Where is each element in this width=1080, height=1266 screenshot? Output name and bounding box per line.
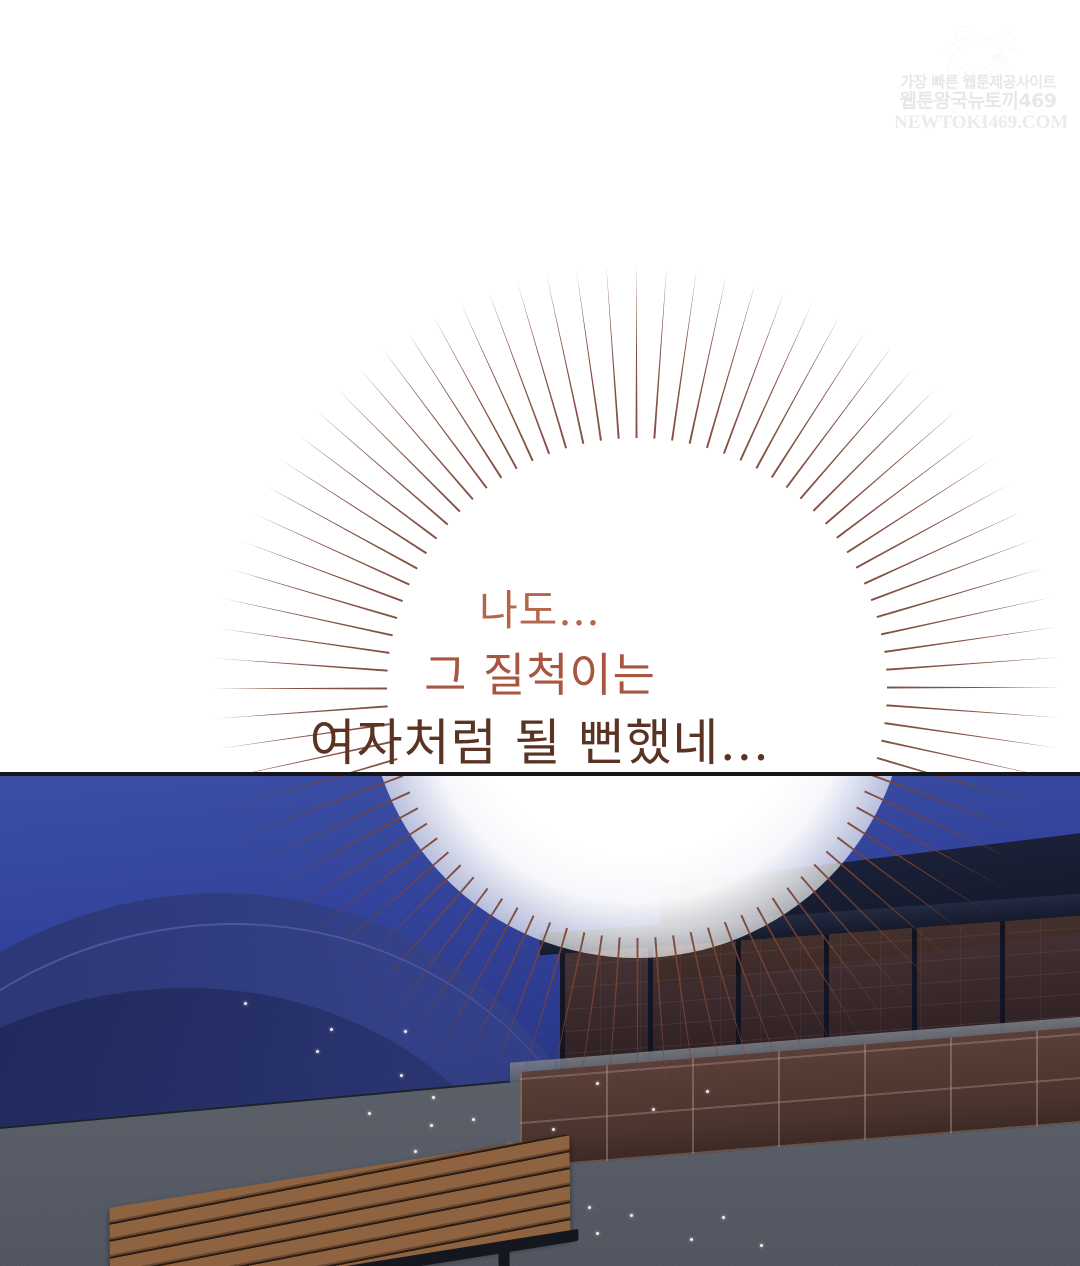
sparkle-dot xyxy=(588,1206,591,1209)
bench-leg-right xyxy=(498,1242,510,1266)
sparkle-dot xyxy=(430,1124,433,1127)
burst-spike xyxy=(637,938,639,1112)
sparkle-dot xyxy=(552,1128,555,1131)
burst-spike xyxy=(636,264,638,438)
webtoon-panel: 나도… 그 질척이는 여자처럼 될 뻔했네… xyxy=(0,0,1080,1266)
sparkle-dot xyxy=(330,1028,333,1031)
sparkle-dot xyxy=(722,1216,725,1219)
sparkle-dot xyxy=(404,1030,407,1033)
sparkle-dot xyxy=(706,1090,709,1093)
sparkle-dot xyxy=(400,1074,403,1077)
white-panel xyxy=(0,0,1080,772)
sparkle-dot xyxy=(472,1118,475,1121)
sparkle-dot xyxy=(414,1150,417,1153)
sparkle-dot xyxy=(368,1112,371,1115)
sparkle-dot xyxy=(244,1002,247,1005)
sparkle-dot xyxy=(630,1214,633,1217)
sparkle-dot xyxy=(316,1050,319,1053)
sparkle-dot xyxy=(596,1082,599,1085)
sparkle-dot xyxy=(432,1096,435,1099)
sparkle-dot xyxy=(760,1244,763,1247)
burst-spike xyxy=(887,687,1061,689)
sparkle-dot xyxy=(652,1108,655,1111)
panel-divider xyxy=(0,772,1080,776)
sparkle-dot xyxy=(690,1238,693,1241)
sparkle-dot xyxy=(596,1232,599,1235)
burst-spike xyxy=(213,688,387,690)
